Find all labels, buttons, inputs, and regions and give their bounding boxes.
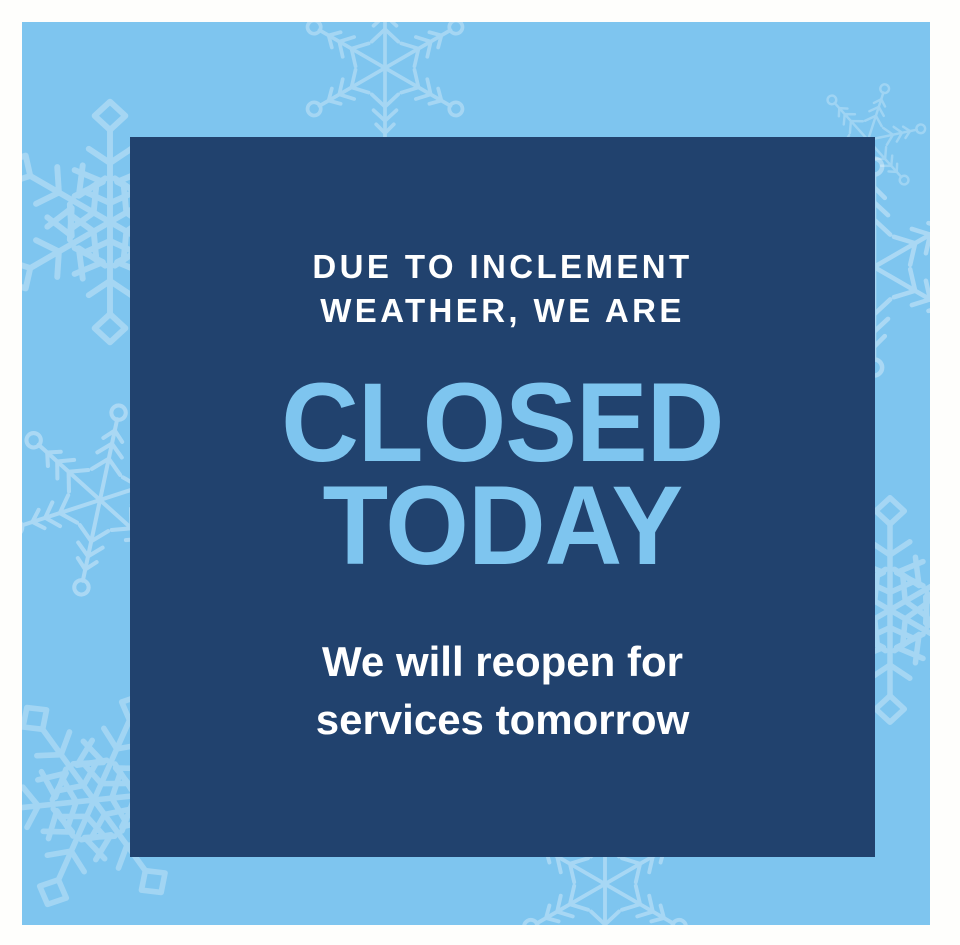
today-word: TODAY [323, 477, 683, 576]
reopen-message: We will reopen for services tomorrow [316, 633, 690, 749]
announcement-card: DUE TO INCLEMENT WEATHER, WE ARE CLOSED … [130, 137, 875, 857]
headline-text: DUE TO INCLEMENT WEATHER, WE ARE [312, 245, 692, 332]
closed-today-poster: DUE TO INCLEMENT WEATHER, WE ARE CLOSED … [0, 0, 960, 945]
blue-background-panel: DUE TO INCLEMENT WEATHER, WE ARE CLOSED … [22, 22, 930, 925]
closed-word: CLOSED [281, 374, 723, 473]
